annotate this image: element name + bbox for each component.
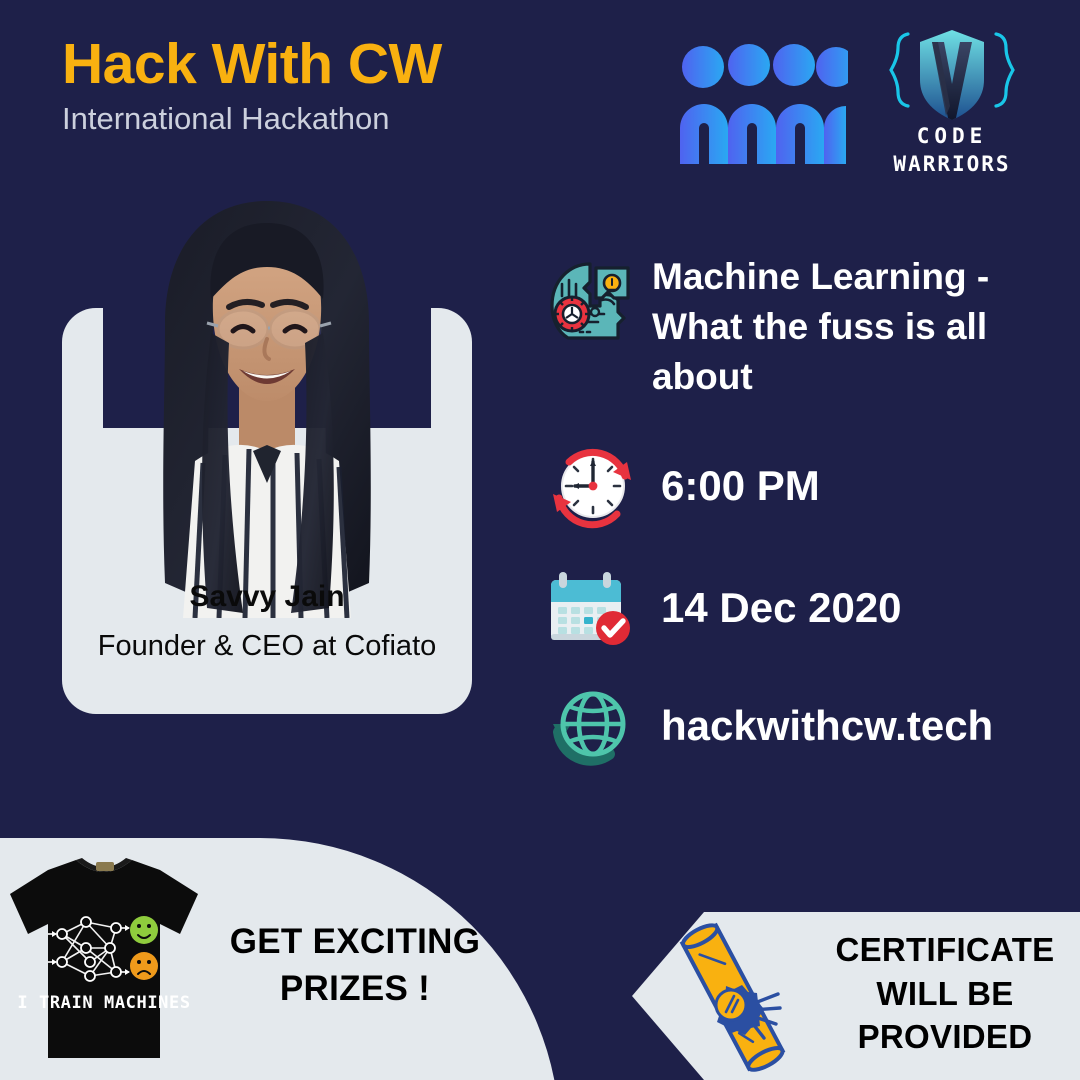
event-date: 14 Dec 2020: [661, 584, 902, 632]
speaker-photo: [103, 183, 431, 618]
certificate-label: CERTIFICATE WILL BE PROVIDED: [800, 928, 1080, 1059]
calendar-icon: [545, 562, 637, 654]
speaker-card: Savvy Jain Founder & CEO at Cofiato: [62, 308, 472, 714]
topic-title: Machine Learning - What the fuss is all …: [652, 252, 1042, 402]
clock-icon: [545, 440, 637, 532]
page-title: Hack With CW: [62, 36, 442, 93]
prizes-content: I TRAIN MACHINES GET EXCITING PRIZES !: [0, 838, 560, 1080]
people-group-logo: [676, 42, 848, 164]
page-subtitle: International Hackathon: [62, 103, 442, 134]
speaker-name: Savvy Jain: [62, 580, 472, 614]
speaker-role: Founder & CEO at Cofiato: [62, 628, 472, 665]
event-poster: Hack With CW International Hackathon: [0, 0, 1080, 1080]
certificate-panel: CERTIFICATE WILL BE PROVIDED: [632, 912, 1080, 1080]
code-warriors-logo: CODE WARRIORS: [872, 28, 1032, 170]
tshirt-caption: I TRAIN MACHINES: [17, 993, 190, 1013]
detail-row-time: 6:00 PM: [545, 440, 1075, 532]
code-warriors-line-1: CODE: [872, 124, 1032, 148]
event-website[interactable]: hackwithcw.tech: [661, 702, 993, 750]
detail-row-date: 14 Dec 2020: [545, 562, 1075, 654]
code-warriors-line-2: WARRIORS: [872, 152, 1032, 176]
title-block: Hack With CW International Hackathon: [62, 36, 442, 134]
detail-row-topic: Machine Learning - What the fuss is all …: [540, 252, 1070, 402]
prizes-label: GET EXCITING PRIZES !: [190, 918, 520, 1013]
diploma-scroll-icon: [658, 920, 808, 1075]
shield-icon: [872, 28, 1032, 123]
event-time: 6:00 PM: [661, 462, 820, 510]
ai-head-icon: [540, 252, 636, 348]
globe-icon: [545, 680, 637, 772]
poster-header: Hack With CW International Hackathon: [0, 0, 1080, 180]
detail-row-website[interactable]: hackwithcw.tech: [545, 680, 1075, 772]
prizes-panel: I TRAIN MACHINES GET EXCITING PRIZES !: [0, 838, 560, 1080]
tshirt-icon: I TRAIN MACHINES: [4, 850, 204, 1068]
